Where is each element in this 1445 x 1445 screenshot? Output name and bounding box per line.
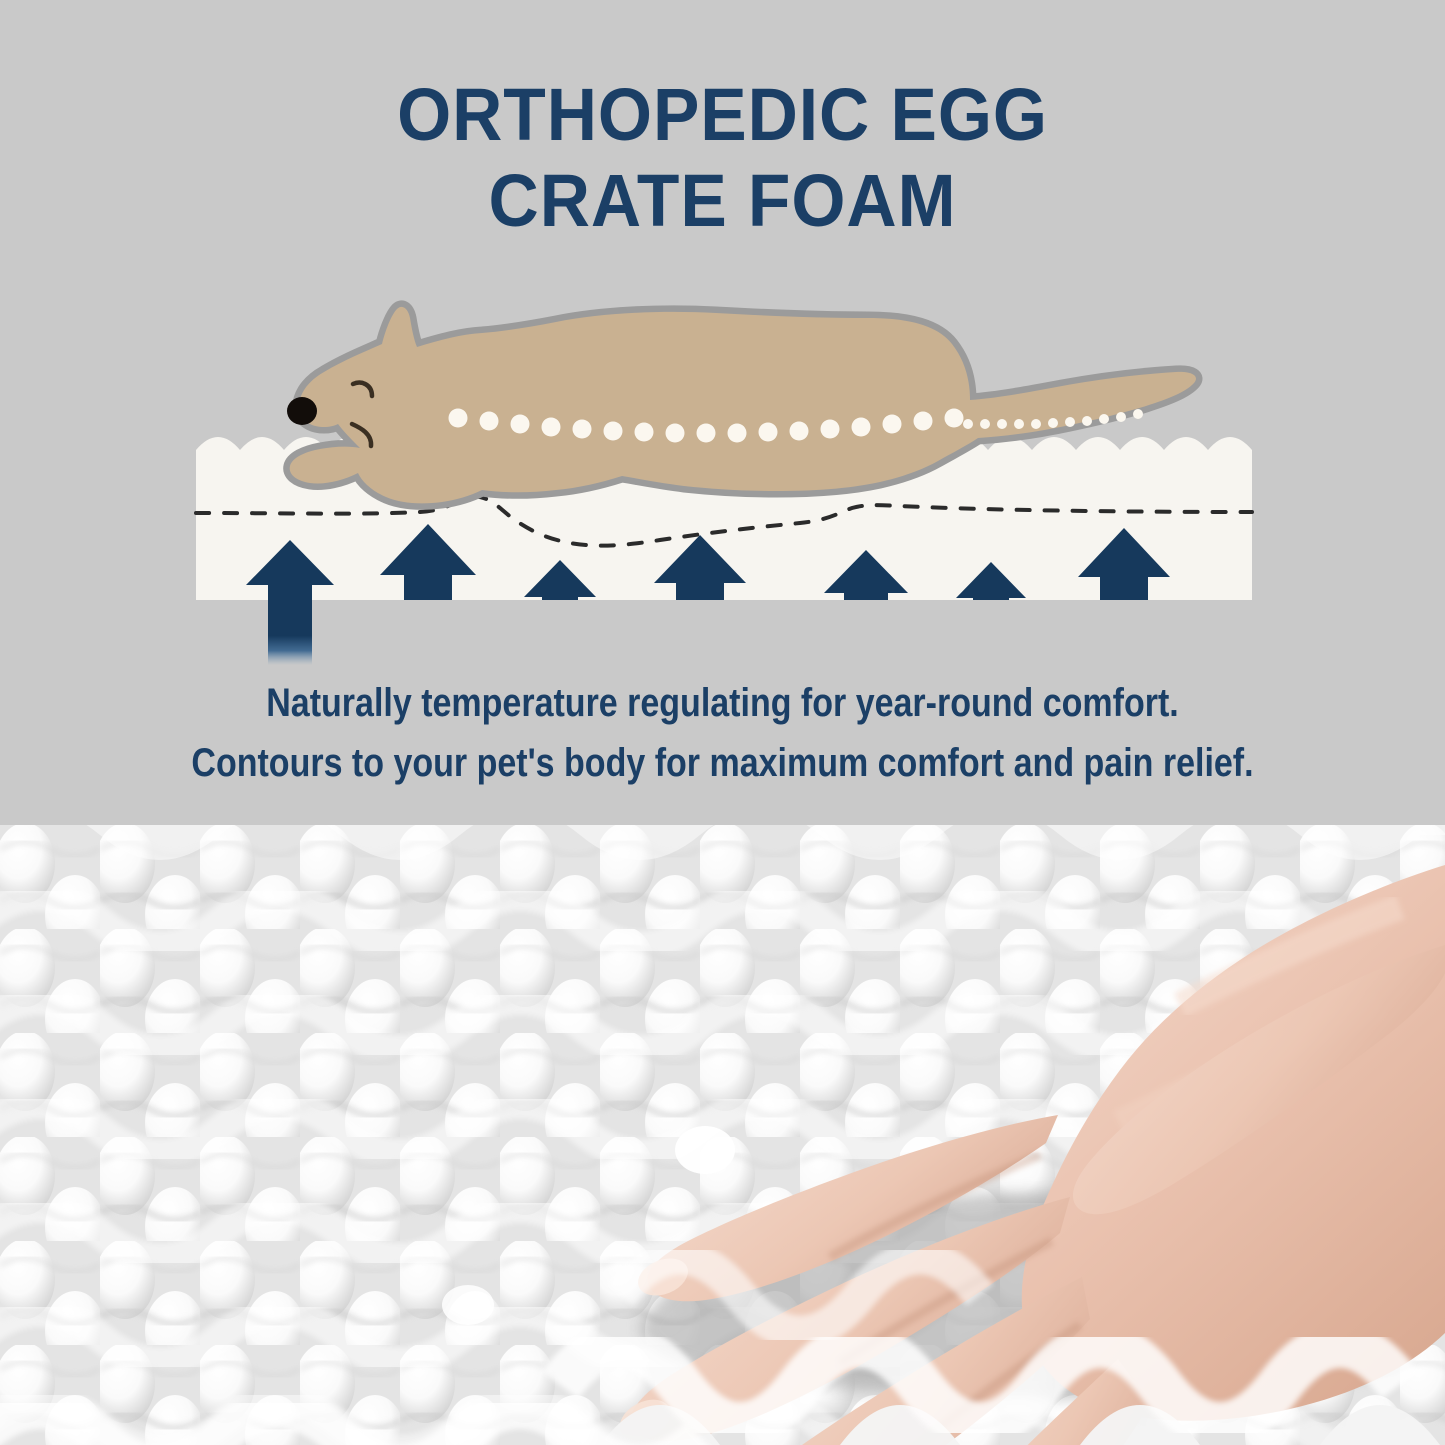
foam-photo (0, 825, 1445, 1445)
infographic-root: ORTHOPEDIC EGG CRATE FOAM (0, 0, 1445, 1445)
tagline-line-1: Naturally temperature regulating for yea… (108, 675, 1336, 731)
top-info-panel: ORTHOPEDIC EGG CRATE FOAM (0, 0, 1445, 825)
foam-photo-graphic (0, 825, 1445, 1445)
tagline-line-2: Contours to your pet's body for maximum … (108, 735, 1336, 791)
arrow-tails-below-foam (268, 600, 312, 665)
dog-nose (287, 397, 317, 425)
